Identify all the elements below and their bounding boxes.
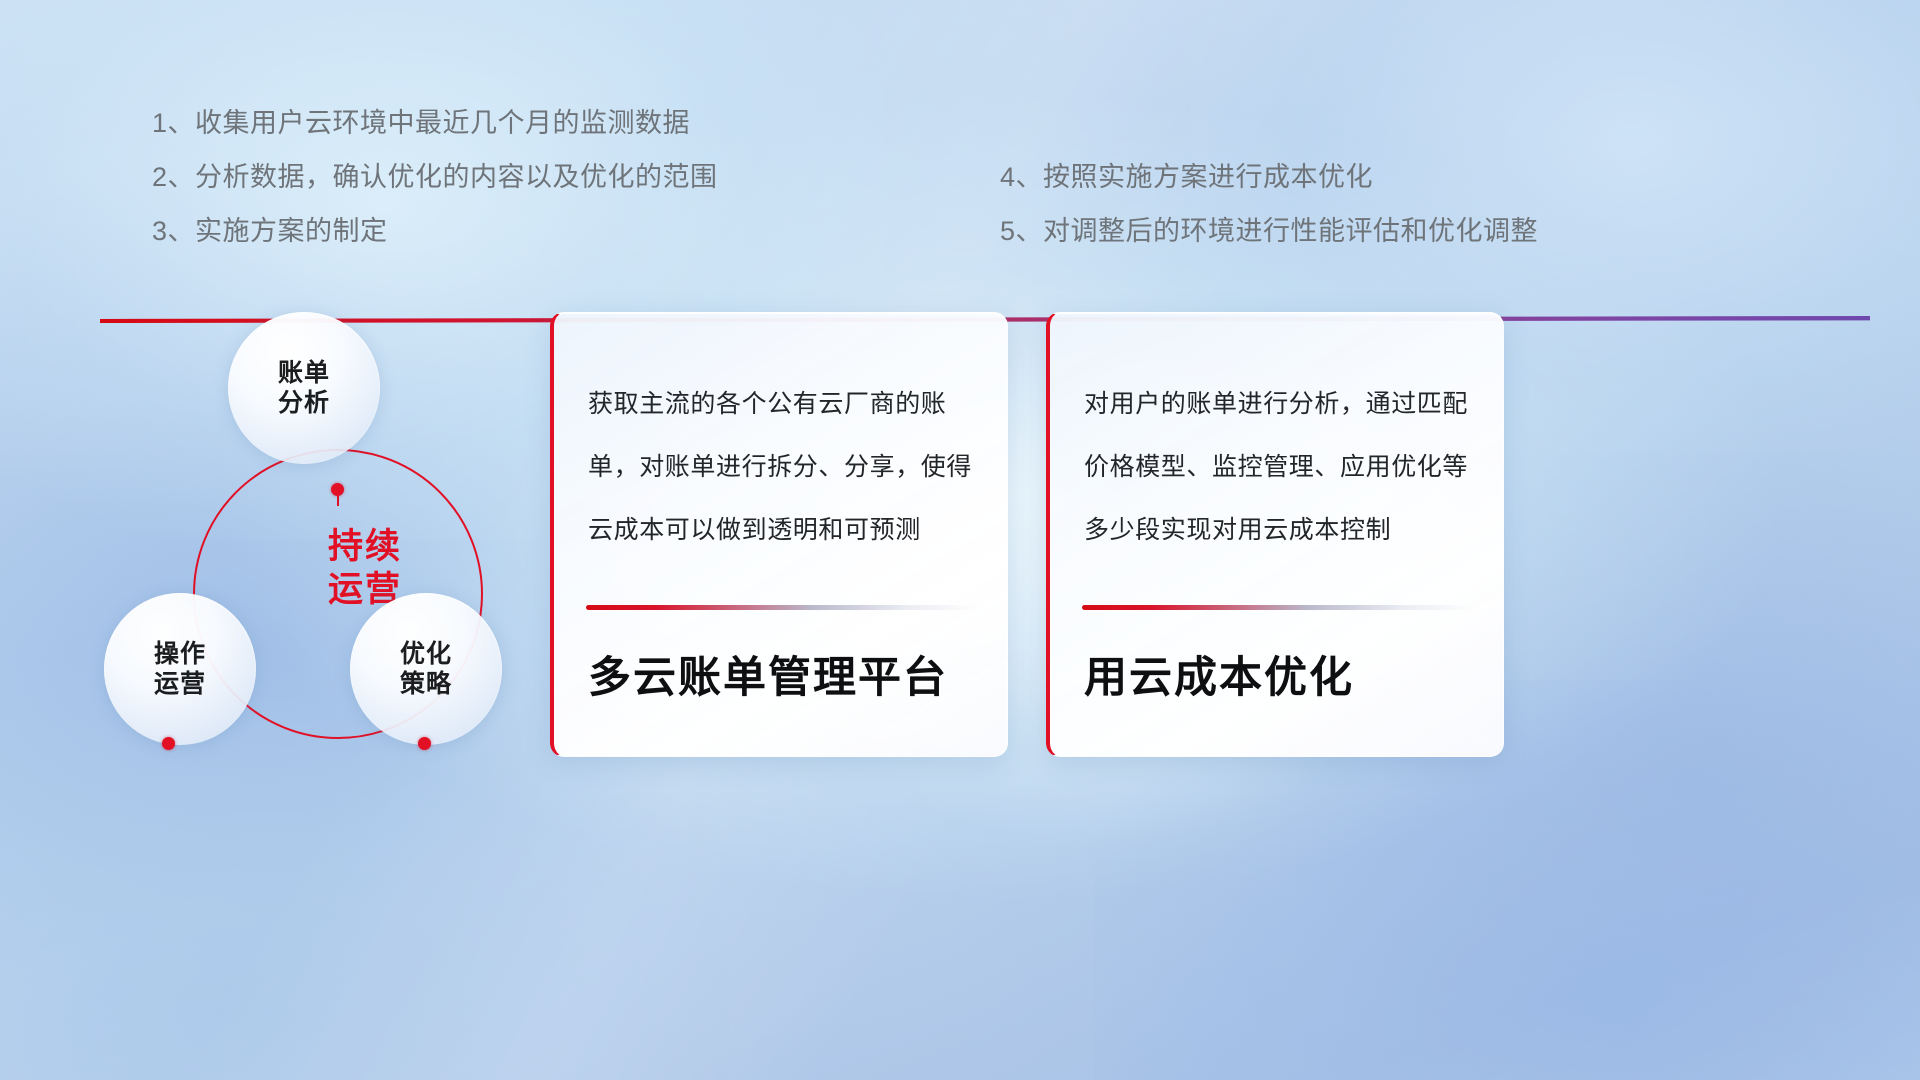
venn-diagram: 持续 运营 账单 分析 操作 运营 优化 策略 [80,340,550,940]
card-accent-rule [1082,605,1473,610]
bullet-list-right: 4、按照实施方案进行成本优化 5、对调整后的环境进行性能评估和优化调整 [1000,150,1760,258]
bullet-list-left: 1、收集用户云环境中最近几个月的监测数据 2、分析数据，确认优化的内容以及优化的… [152,96,852,258]
connector-dot-right [418,737,431,750]
venn-bubble-label-line-1: 优化 [400,639,452,670]
venn-bubble-label-line-2: 分析 [278,388,330,419]
bullet-item-4: 4、按照实施方案进行成本优化 [1000,150,1760,204]
bullet-lists: 1、收集用户云环境中最近几个月的监测数据 2、分析数据，确认优化的内容以及优化的… [0,0,1920,300]
card-multi-cloud-bill-platform[interactable]: 获取主流的各个公有云厂商的账单，对账单进行拆分、分享，使得云成本可以做到透明和可… [550,312,1008,757]
bullet-item-3: 3、实施方案的制定 [152,204,852,258]
card-body-text: 获取主流的各个公有云厂商的账单，对账单进行拆分、分享，使得云成本可以做到透明和可… [588,373,981,562]
venn-bubble-label-line-1: 操作 [154,639,206,670]
venn-bubble-label-line-1: 账单 [278,358,330,389]
venn-center-line-1: 持续 [275,526,455,569]
bullet-item-1: 1、收集用户云环境中最近几个月的监测数据 [152,96,852,150]
card-title: 用云成本优化 [1084,643,1477,705]
venn-bubble-optimization-strategy[interactable]: 优化 策略 [350,593,502,745]
connector-dot-top [331,483,344,496]
venn-bubble-label-line-2: 策略 [400,669,452,700]
venn-bubble-bill-analysis[interactable]: 账单 分析 [228,312,380,464]
bullet-item-5: 5、对调整后的环境进行性能评估和优化调整 [1000,204,1760,258]
venn-bubble-operation-management[interactable]: 操作 运营 [104,593,256,745]
venn-bubble-label-line-2: 运营 [154,669,206,700]
card-cloud-cost-optimization[interactable]: 对用户的账单进行分析，通过匹配价格模型、监控管理、应用优化等多少段实现对用云成本… [1046,312,1504,757]
card-accent-rule [586,605,977,610]
card-title: 多云账单管理平台 [588,643,981,705]
connector-dot-left [162,737,175,750]
bullet-item-2: 2、分析数据，确认优化的内容以及优化的范围 [152,150,852,204]
card-body-text: 对用户的账单进行分析，通过匹配价格模型、监控管理、应用优化等多少段实现对用云成本… [1084,373,1477,562]
